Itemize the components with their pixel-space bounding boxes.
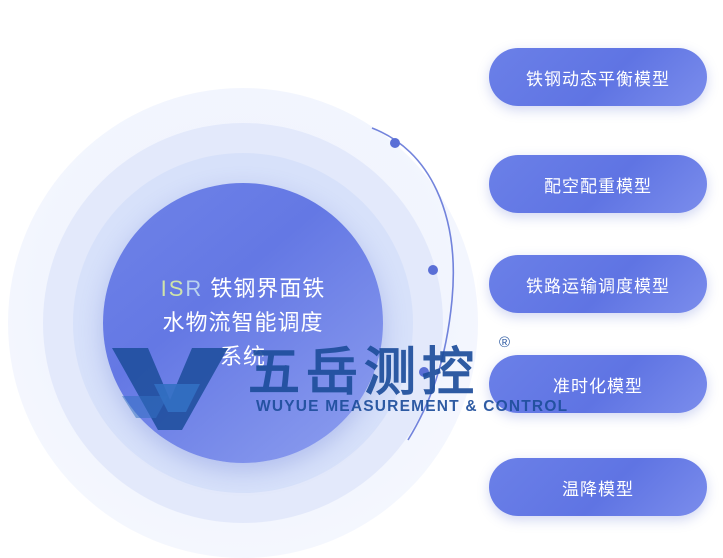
watermark-company-en: WUYUE MEASUREMENT & CONTROL: [256, 398, 568, 416]
model-node-empty-ballast[interactable]: 配空配重模型: [489, 155, 707, 213]
model-node-label: 铁钢动态平衡模型: [526, 65, 670, 90]
watermark-company-cn: 五岳测控: [248, 330, 480, 405]
model-node-rail-transport[interactable]: 铁路运输调度模型: [489, 255, 707, 313]
model-node-label: 铁路运输调度模型: [526, 272, 670, 297]
center-node-text-1: 铁钢界面铁: [210, 276, 325, 301]
wuyue-mark-icon: [108, 338, 248, 430]
watermark-logo: 五岳测控 ® WUYUE MEASUREMENT & CONTROL: [108, 330, 538, 445]
model-node-temperature-drop[interactable]: 温降模型: [489, 458, 707, 516]
center-node-line-1: ISR 铁钢界面铁: [161, 272, 326, 306]
registered-trademark-icon: ®: [499, 334, 510, 351]
diagram-canvas: ISR 铁钢界面铁 水物流智能调度 系统 铁钢动态平衡模型 配空配重模型 铁路运…: [0, 0, 723, 558]
model-node-label: 准时化模型: [553, 372, 643, 397]
model-node-label: 配空配重模型: [544, 172, 652, 197]
center-node-acronym: ISR: [161, 276, 204, 301]
model-node-iron-steel-balance[interactable]: 铁钢动态平衡模型: [489, 48, 707, 106]
model-node-label: 温降模型: [562, 475, 634, 500]
